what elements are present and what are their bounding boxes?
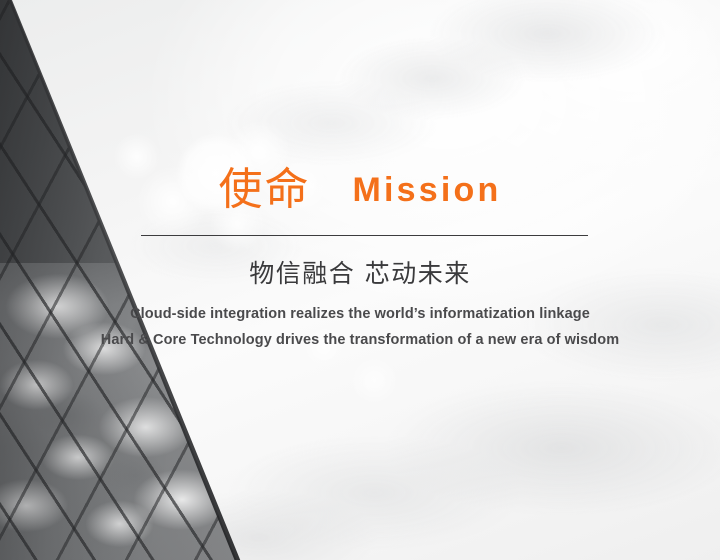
heading-row: 使命Mission xyxy=(0,168,720,212)
body-line-1: Cloud-side integration realizes the worl… xyxy=(0,301,720,327)
heading-divider xyxy=(141,235,588,236)
body-text-block: Cloud-side integration realizes the worl… xyxy=(0,301,720,353)
heading-chinese: 使命 xyxy=(219,168,311,212)
body-line-2: Hard & Core Technology drives the transf… xyxy=(0,327,720,353)
mission-banner: 使命Mission 物信融合 芯动未来 Cloud-side integrati… xyxy=(0,0,720,560)
subtitle-chinese: 物信融合 芯动未来 xyxy=(0,259,720,289)
banner-content: 使命Mission 物信融合 芯动未来 Cloud-side integrati… xyxy=(0,0,720,560)
heading-english: Mission xyxy=(353,173,502,207)
